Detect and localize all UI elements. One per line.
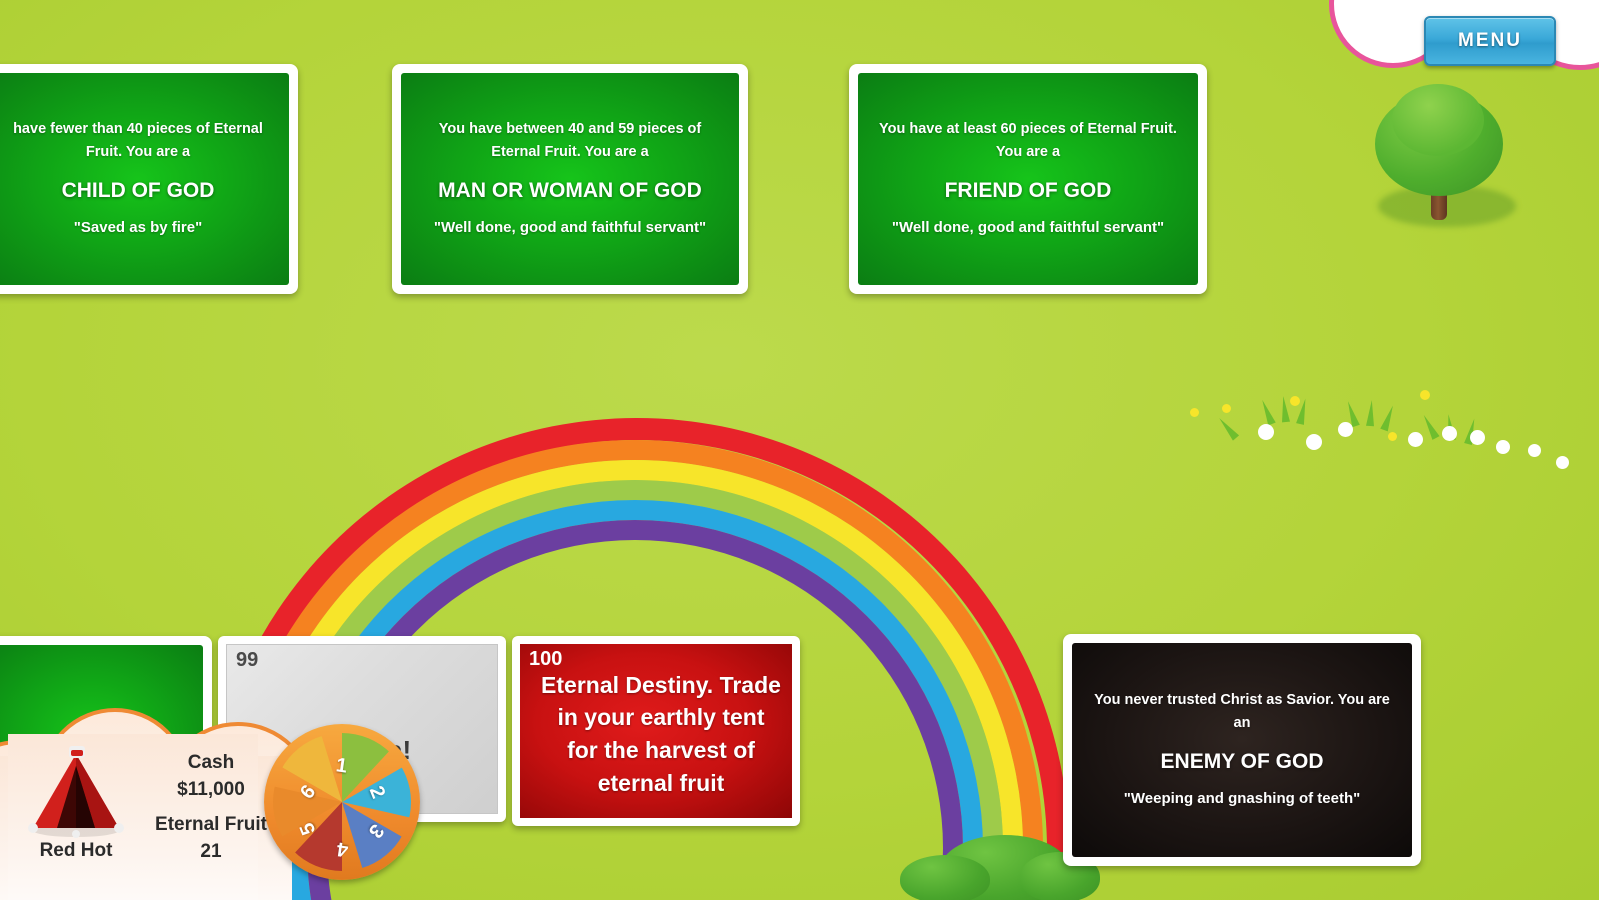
- deck-card-body: 100 Eternal Destiny. Trade in your earth…: [520, 644, 792, 818]
- spinner-wheel[interactable]: 1 2 3 4 5 6: [264, 724, 420, 880]
- flower-dot-icon: [1338, 422, 1353, 437]
- flower-dot-icon: [1190, 408, 1199, 417]
- destiny-card-body: You have between 40 and 59 pieces of Ete…: [401, 73, 739, 285]
- cash-label: Cash: [136, 752, 286, 774]
- destiny-card-body: You have at least 60 pieces of Eternal F…: [858, 73, 1198, 285]
- grass-tuft-icon: [1216, 416, 1239, 441]
- flower-dot-icon: [1222, 404, 1231, 413]
- player-stats: Cash $11,000 Eternal Fruit 21: [136, 746, 286, 876]
- player-token-name: Red Hot: [16, 840, 136, 862]
- flower-dot-icon: [1290, 396, 1300, 406]
- deck-card-100[interactable]: 100 Eternal Destiny. Trade in your earth…: [512, 636, 800, 826]
- flower-dot-icon: [1258, 424, 1274, 440]
- destiny-card-quote: "Saved as by fire": [74, 217, 202, 240]
- destiny-card-friend-of-god[interactable]: You have at least 60 pieces of Eternal F…: [849, 64, 1207, 294]
- menu-button-label: MENU: [1458, 30, 1522, 52]
- destiny-card-intro: You have at least 60 pieces of Eternal F…: [870, 118, 1186, 163]
- destiny-card-enemy-of-god[interactable]: You never trusted Christ as Savior. You …: [1063, 634, 1421, 866]
- flower-dot-icon: [1442, 426, 1457, 441]
- destiny-card-quote: "Weeping and gnashing of teeth": [1124, 788, 1360, 811]
- grass-tuft-icon: [1259, 398, 1276, 425]
- destiny-card-quote: "Well done, good and faithful servant": [434, 217, 706, 240]
- bush-icon: [900, 855, 990, 900]
- destiny-card-intro: You have between 40 and 59 pieces of Ete…: [413, 118, 727, 163]
- flower-dot-icon: [1408, 432, 1423, 447]
- flower-dot-icon: [1420, 390, 1430, 400]
- grass-tuft-icon: [1366, 400, 1376, 426]
- flower-dot-icon: [1388, 432, 1397, 441]
- destiny-card-body: have fewer than 40 pieces of Eternal Fru…: [0, 73, 289, 285]
- flower-dot-icon: [1306, 434, 1322, 450]
- spinner-label-4: 4: [335, 836, 349, 860]
- destiny-card-intro: You never trusted Christ as Savior. You …: [1084, 689, 1400, 734]
- grass-tuft-icon: [1420, 413, 1439, 440]
- deck-card-text: Eternal Destiny. Trade in your earthly t…: [520, 663, 792, 800]
- destiny-card-child-of-god[interactable]: have fewer than 40 pieces of Eternal Fru…: [0, 64, 298, 294]
- grass-tuft-icon: [1279, 396, 1290, 423]
- destiny-card-title: MAN OR WOMAN OF GOD: [438, 179, 702, 203]
- destiny-card-body: You never trusted Christ as Savior. You …: [1072, 643, 1412, 857]
- destiny-card-title: FRIEND OF GOD: [945, 179, 1112, 203]
- flower-dot-icon: [1528, 444, 1541, 457]
- deck-card-number: 99: [236, 649, 258, 672]
- grass-tuft-icon: [1380, 404, 1396, 431]
- destiny-card-quote: "Well done, good and faithful servant": [892, 217, 1164, 240]
- menu-button[interactable]: MENU: [1424, 16, 1556, 66]
- destiny-card-man-or-woman-of-god[interactable]: You have between 40 and 59 pieces of Ete…: [392, 64, 748, 294]
- flower-dot-icon: [1496, 440, 1510, 454]
- game-canvas: MENU have fewer than 40 pieces of Eterna…: [0, 0, 1599, 900]
- eternal-fruit-value: 21: [136, 841, 286, 863]
- deck-card-number: 100: [529, 648, 562, 671]
- destiny-card-title: ENEMY OF GOD: [1161, 750, 1324, 774]
- red-tent-icon: [23, 746, 129, 838]
- destiny-card-intro: have fewer than 40 pieces of Eternal Fru…: [0, 118, 277, 163]
- player-token[interactable]: Red Hot: [16, 746, 136, 862]
- eternal-fruit-label: Eternal Fruit: [136, 814, 286, 836]
- spinner-face: 1 2 3 4 5 6: [273, 733, 411, 871]
- destiny-card-title: CHILD OF GOD: [62, 179, 215, 203]
- flower-dot-icon: [1556, 456, 1569, 469]
- flower-dot-icon: [1470, 430, 1485, 445]
